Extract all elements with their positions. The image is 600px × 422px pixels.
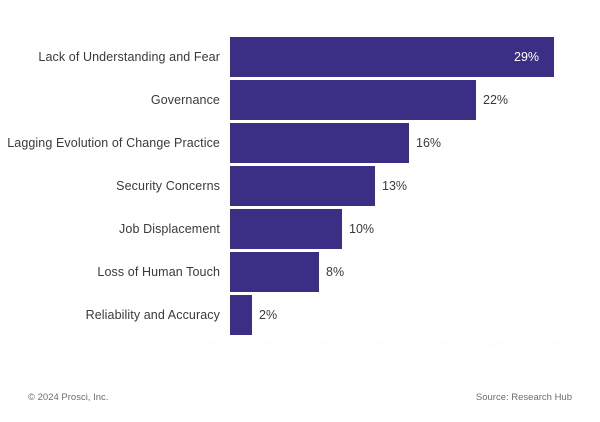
bar-row: Loss of Human Touch 8% (0, 251, 600, 294)
axis-tick: 25% (488, 338, 506, 352)
axis-tick: 15% (371, 338, 389, 352)
bar-value-label: 13% (382, 166, 407, 206)
bar-value-label: 29% (514, 37, 539, 77)
bar-value-label: 2% (259, 295, 277, 335)
copyright-text: © 2024 Prosci, Inc. (28, 392, 108, 403)
bar[interactable] (230, 209, 342, 249)
bar[interactable] (230, 295, 252, 335)
faint-axis-ticks: 0% 5% 10% 15% 20% 25% 30% (205, 338, 565, 352)
bar-track: 2% (230, 295, 590, 335)
bar-track: 8% (230, 252, 590, 292)
category-label: Job Displacement (0, 222, 220, 236)
axis-tick: 0% (205, 338, 218, 352)
axis-tick: 20% (430, 338, 448, 352)
bar-row: Security Concerns 13% (0, 165, 600, 208)
source-text: Source: Research Hub (476, 392, 572, 403)
bar-row: Lagging Evolution of Change Practice 16% (0, 122, 600, 165)
category-label: Security Concerns (0, 179, 220, 193)
category-label: Loss of Human Touch (0, 265, 220, 279)
category-label: Governance (0, 93, 220, 107)
bar-track: 29% (230, 37, 590, 77)
bar-track: 22% (230, 80, 590, 120)
bar-row: Reliability and Accuracy 2% (0, 294, 600, 337)
bar[interactable] (230, 80, 476, 120)
bar-track: 16% (230, 123, 590, 163)
axis-tick: 10% (312, 338, 330, 352)
bar[interactable] (230, 123, 409, 163)
bar-row: Lack of Understanding and Fear 29% (0, 36, 600, 79)
category-label: Lagging Evolution of Change Practice (0, 136, 220, 150)
footer: © 2024 Prosci, Inc. Source: Research Hub (0, 392, 600, 408)
bar-row: Job Displacement 10% (0, 208, 600, 251)
bar-row: Governance 22% (0, 79, 600, 122)
axis-tick: 5% (259, 338, 272, 352)
bar-value-label: 16% (416, 123, 441, 163)
category-label: Lack of Understanding and Fear (0, 50, 220, 64)
bar-track: 10% (230, 209, 590, 249)
bar-track: 13% (230, 166, 590, 206)
bar[interactable] (230, 37, 554, 77)
bar-value-label: 8% (326, 252, 344, 292)
bar-chart-figure: Lack of Understanding and Fear 29% Gover… (0, 0, 600, 422)
category-label: Reliability and Accuracy (0, 308, 220, 322)
bar-value-label: 22% (483, 80, 508, 120)
plot-area: Lack of Understanding and Fear 29% Gover… (0, 36, 600, 336)
bar[interactable] (230, 166, 375, 206)
axis-tick: 30% (547, 338, 565, 352)
bar[interactable] (230, 252, 319, 292)
bar-value-label: 10% (349, 209, 374, 249)
